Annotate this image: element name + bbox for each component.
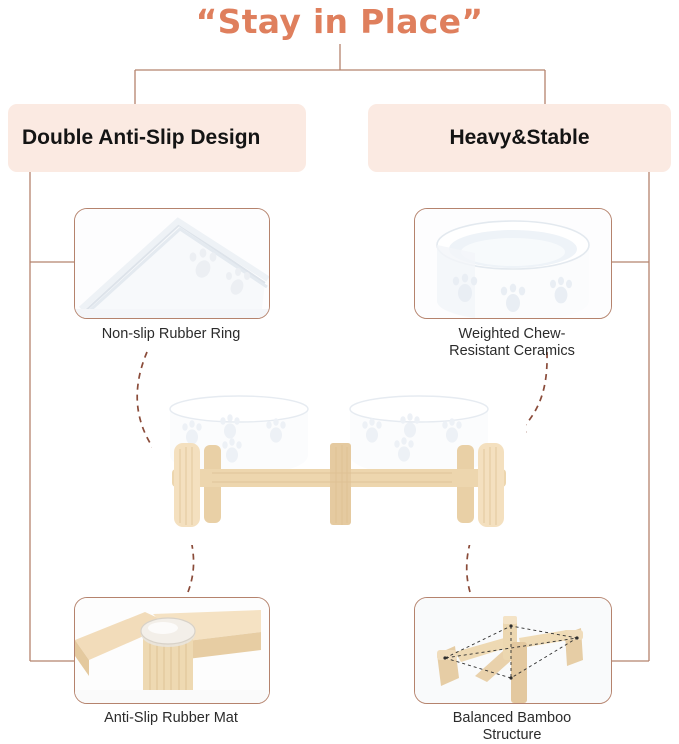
double-bowl-bamboo-stand-illustration xyxy=(152,385,526,545)
category-label-text: Heavy&Stable xyxy=(449,126,589,150)
page-title: “Stay in Place” xyxy=(0,2,679,41)
category-label-double-anti-slip[interactable]: Double Anti-Slip Design xyxy=(8,104,306,172)
caption-line-2: Structure xyxy=(390,727,634,744)
infographic-root: “Stay in Place” xyxy=(0,0,679,743)
feature-caption-weighted-ceramics: Weighted Chew- Resistant Ceramics xyxy=(390,326,634,360)
caption-line-1: Weighted Chew- xyxy=(390,326,634,343)
feature-caption-non-slip-rubber-ring: Non-slip Rubber Ring xyxy=(46,326,296,343)
caption-line-1: Balanced Bamboo xyxy=(390,710,634,727)
category-label-heavy-stable[interactable]: Heavy&Stable xyxy=(368,104,671,172)
feature-image-balanced-bamboo-structure xyxy=(414,597,612,704)
bamboo-leg-rubber-pad-illustration xyxy=(75,598,269,703)
category-label-text: Double Anti-Slip Design xyxy=(22,126,260,150)
feature-image-non-slip-rubber-ring xyxy=(74,208,270,319)
feature-image-weighted-ceramics xyxy=(414,208,612,319)
hero-product-image xyxy=(152,385,526,545)
feature-caption-balanced-bamboo-structure: Balanced Bamboo Structure xyxy=(390,710,634,744)
feature-image-anti-slip-rubber-mat xyxy=(74,597,270,704)
bowl-interior-illustration xyxy=(415,209,611,318)
caption-line-2: Resistant Ceramics xyxy=(390,343,634,360)
bamboo-frame-balance-illustration xyxy=(415,598,611,703)
feature-caption-anti-slip-rubber-mat: Anti-Slip Rubber Mat xyxy=(46,710,296,727)
bowl-underside-illustration xyxy=(75,209,269,318)
